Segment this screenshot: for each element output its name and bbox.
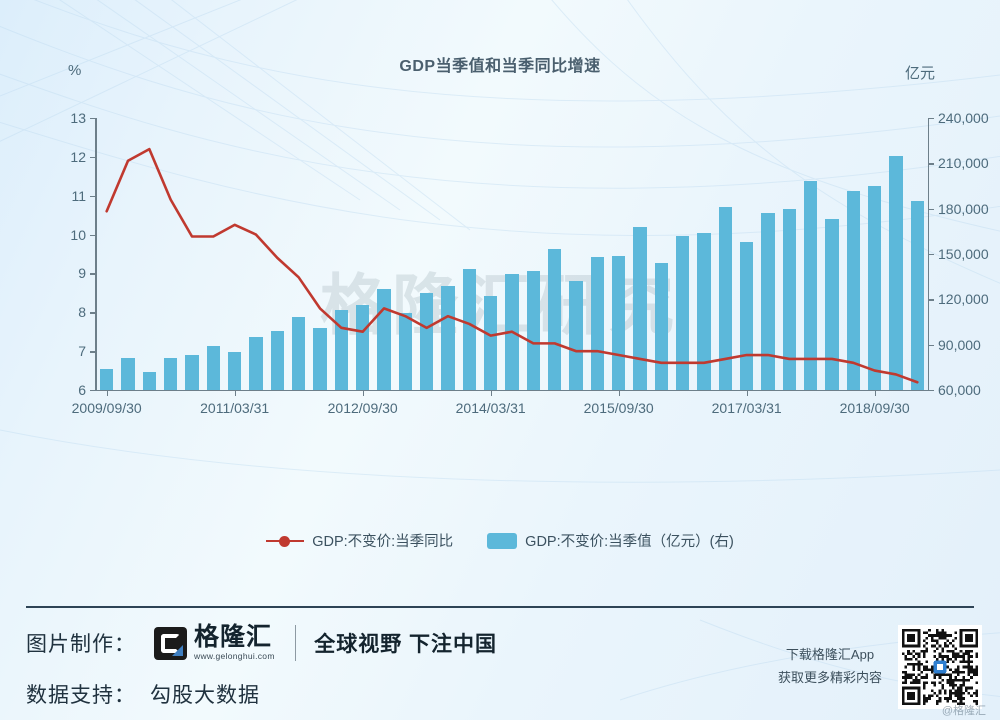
qr-promo-line1: 下载格隆汇App (778, 644, 882, 667)
x-axis-tick-label: 2011/03/31 (200, 400, 269, 416)
qr-promo-line2: 获取更多精彩内容 (778, 667, 882, 690)
qr-promo-block[interactable]: 下载格隆汇App 获取更多精彩内容 (778, 625, 982, 709)
legend-item-gdp-value[interactable]: GDP:不变价:当季值（亿元）(右) (487, 530, 734, 551)
plot-area: 67891011121360,00090,000120,000150,00018… (96, 118, 928, 390)
left-axis-tick-label: 7 (46, 343, 86, 359)
qr-code-image[interactable] (898, 625, 982, 709)
line-marker-icon (266, 535, 304, 547)
x-axis-tick-label: 2018/09/30 (840, 400, 910, 416)
x-axis-tick-label: 2015/09/30 (584, 400, 654, 416)
right-axis-tick-label: 150,000 (938, 246, 1000, 262)
data-source-value: 勾股大数据 (150, 679, 260, 709)
brand-name-block: 格隆汇 www.gelonghui.com (194, 625, 275, 661)
left-axis-tick-label: 10 (46, 227, 86, 243)
left-axis-tick-label: 11 (46, 188, 86, 204)
square-marker-icon (487, 533, 517, 549)
footer-watermark: @格隆汇 (942, 702, 986, 718)
right-axis-tick-label: 210,000 (938, 155, 1000, 171)
right-axis-tick-label: 240,000 (938, 110, 1000, 126)
legend-label-growth-rate: GDP:不变价:当季同比 (312, 530, 453, 551)
brand-url: www.gelonghui.com (194, 652, 275, 661)
plot-inner: 67891011121360,00090,000120,000150,00018… (96, 118, 928, 390)
page-root: % 亿元 GDP当季值和当季同比增速 格隆汇研究 67891011121360,… (0, 0, 1000, 720)
chart-legend: GDP:不变价:当季同比 GDP:不变价:当季值（亿元）(右) (0, 530, 1000, 551)
x-axis-tick-label: 2017/03/31 (712, 400, 782, 416)
left-axis-tick-label: 8 (46, 304, 86, 320)
right-axis-line (928, 118, 930, 390)
right-axis-tick-label: 120,000 (938, 291, 1000, 307)
qr-promo-text: 下载格隆汇App 获取更多精彩内容 (778, 644, 882, 690)
made-by-label: 图片制作： (26, 628, 136, 658)
left-axis-tick-label: 9 (46, 265, 86, 281)
footer-credit-row: 图片制作： 格隆汇 www.gelonghui.com 全球视野 下注中国 (26, 625, 497, 661)
gelonghui-logo-icon (154, 627, 187, 660)
right-axis-tick-label: 60,000 (938, 382, 1000, 398)
footer: 图片制作： 格隆汇 www.gelonghui.com 全球视野 下注中国 数据… (0, 607, 1000, 720)
left-axis-tick-label: 6 (46, 382, 86, 398)
left-axis-line (95, 118, 97, 390)
right-axis-tick-label: 90,000 (938, 337, 1000, 353)
data-source-label: 数据支持： (26, 679, 136, 709)
left-axis-tick-label: 13 (46, 110, 86, 126)
brand-name-cn: 格隆汇 (194, 625, 275, 650)
chart-container: % 亿元 GDP当季值和当季同比增速 格隆汇研究 67891011121360,… (0, 0, 1000, 600)
left-axis-tick-label: 12 (46, 149, 86, 165)
x-axis-line (95, 390, 929, 392)
x-axis-tick-label: 2009/09/30 (72, 400, 142, 416)
brand-slogan: 全球视野 下注中国 (314, 628, 497, 658)
growth-rate-line-series (96, 118, 928, 390)
legend-item-growth-rate[interactable]: GDP:不变价:当季同比 (266, 530, 453, 551)
chart-title: GDP当季值和当季同比增速 (0, 52, 1000, 76)
footer-datasource-row: 数据支持： 勾股大数据 (26, 679, 260, 709)
x-axis-tick-label: 2012/09/30 (328, 400, 398, 416)
x-axis-tick-label: 2014/03/31 (456, 400, 526, 416)
right-axis-tick-label: 180,000 (938, 201, 1000, 217)
vertical-separator (295, 625, 297, 661)
legend-label-gdp-value: GDP:不变价:当季值（亿元）(右) (525, 530, 734, 551)
